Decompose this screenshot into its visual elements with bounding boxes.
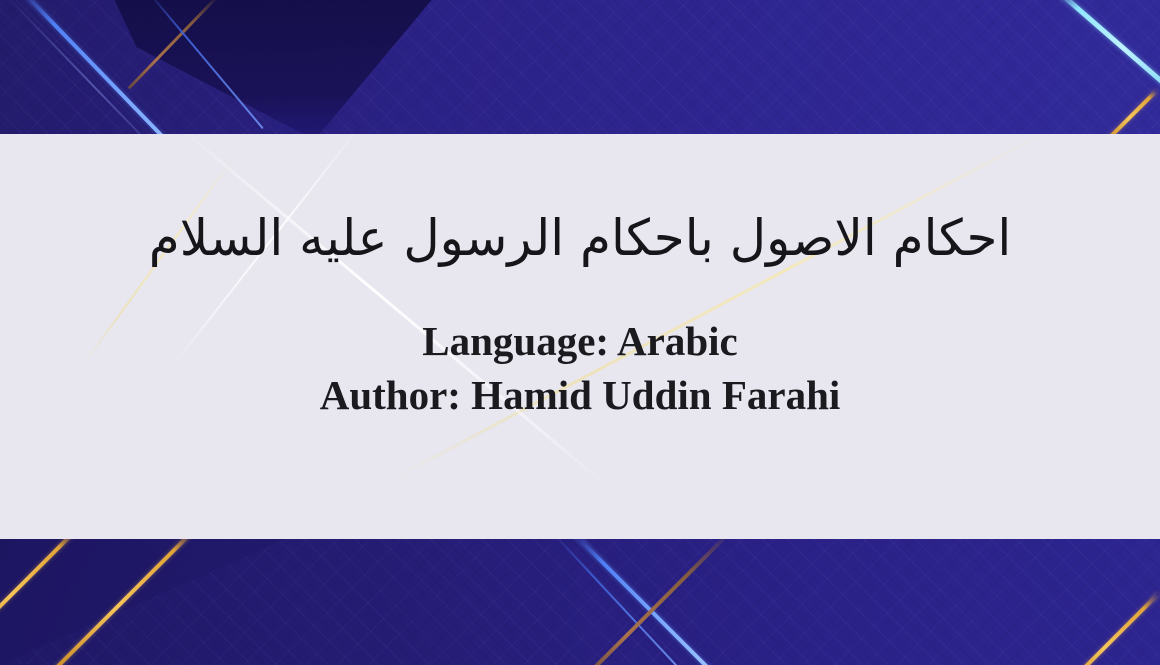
accent-line-bronze-top [128,0,220,90]
diagonal-stripe-texture-bottom [0,539,1160,665]
accent-line-blue-top-left [15,0,205,134]
accent-line-faint-top-left [5,0,180,134]
accent-line-gold-bottom-right [1058,592,1160,665]
language-line: Language: Arabic [320,314,841,369]
bottom-decorative-band [0,539,1160,665]
accent-line-blue-bottom-center-2 [555,539,679,665]
accent-line-blue-secondary-top [146,0,263,129]
dark-wedge-shape [110,0,440,134]
dark-wedge-shape-bottom-left [0,539,620,665]
accent-line-cyan-top-right [1055,0,1160,97]
accent-line-gold-bottom-left-2 [52,539,196,665]
diagonal-stripe-texture [0,0,1160,134]
accent-line-blue-bottom-center [573,539,717,665]
diagonal-stripe-texture-reverse [0,0,1160,134]
diagonal-stripe-texture-bottom-reverse [0,539,1160,665]
accent-line-gold-top-right [1106,89,1158,134]
book-cover-card: احكام الاصول باحكام الرسول عليه السلام L… [0,0,1160,665]
book-metadata: Language: Arabic Author: Hamid Uddin Far… [320,314,841,423]
accent-line-gold-bottom-left-1 [0,539,78,651]
book-title-arabic: احكام الاصول باحكام الرسول عليه السلام [149,210,1012,268]
accent-line-bronze-bottom-center [581,539,732,665]
title-panel: احكام الاصول باحكام الرسول عليه السلام L… [0,134,1160,539]
author-line: Author: Hamid Uddin Farahi [320,368,841,423]
top-decorative-band [0,0,1160,134]
